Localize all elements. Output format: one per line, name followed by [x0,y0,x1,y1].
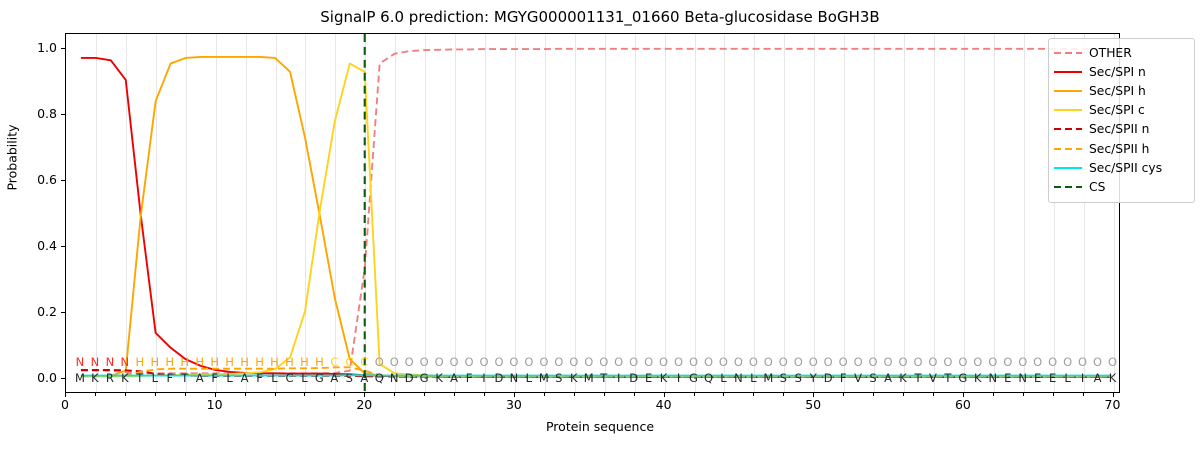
region-marker: O [1104,355,1122,370]
x-minor-tick [484,393,485,396]
legend-label: Sec/SPI n [1082,65,1146,79]
legend-swatch-icon [1054,143,1082,155]
x-tick-label: 60 [943,397,983,412]
series-line-sec-spi-c [81,64,1112,377]
x-tick-mark [664,393,665,397]
legend-label: Sec/SPII h [1082,142,1149,156]
x-tick-label: 70 [1093,397,1133,412]
legend-swatch-icon [1054,47,1082,59]
legend-item-sec-spii-h[interactable]: Sec/SPII h [1054,139,1189,158]
legend-swatch-icon [1054,85,1082,97]
legend-swatch-icon [1054,66,1082,78]
x-minor-tick [245,393,246,396]
x-minor-tick [275,393,276,396]
legend-label: OTHER [1082,46,1132,60]
legend-item-sec-spii-cys[interactable]: Sec/SPII cys [1054,158,1189,177]
x-minor-tick [394,393,395,396]
legend-item-cs[interactable]: CS [1054,177,1189,196]
x-tick-mark [813,393,814,397]
series-line-sec-spi-h [81,57,1112,377]
x-tick-label: 50 [793,397,833,412]
x-minor-tick [544,393,545,396]
legend-item-sec-spi-c[interactable]: Sec/SPI c [1054,101,1189,120]
x-minor-tick [155,393,156,396]
x-tick-label: 0 [45,397,85,412]
x-tick-label: 40 [644,397,684,412]
x-minor-tick [574,393,575,396]
x-tick-label: 30 [494,397,534,412]
region-annotation-row: NNNNHHHHHHHHHHHHHCCCOOOOOOOOOOOOOOOOOOOO… [0,355,1200,370]
y-tick-mark [61,48,65,49]
x-tick-mark [514,393,515,397]
legend-swatch-icon [1054,123,1082,135]
y-tick-label: 0.8 [5,106,57,121]
legend-item-other[interactable]: OTHER [1054,43,1189,62]
x-minor-tick [634,393,635,396]
legend-swatch-icon [1054,181,1082,193]
legend-label: Sec/SPII n [1082,122,1149,136]
amino-acid-row: MKRKTLFTAFLAFLCLGASAQNDGKAFIDNLMSKMTIDEK… [0,371,1200,386]
x-minor-tick [424,393,425,396]
x-minor-tick [873,393,874,396]
x-minor-tick [903,393,904,396]
x-tick-mark [364,393,365,397]
page-title: SignalP 6.0 prediction: MGYG000001131_01… [0,8,1200,26]
x-minor-tick [125,393,126,396]
x-minor-tick [604,393,605,396]
x-minor-tick [993,393,994,396]
x-tick-mark [1113,393,1114,397]
x-minor-tick [454,393,455,396]
x-minor-tick [723,393,724,396]
x-minor-tick [334,393,335,396]
x-minor-tick [933,393,934,396]
y-tick-label: 0.2 [5,304,57,319]
x-minor-tick [753,393,754,396]
legend-label: Sec/SPI c [1082,103,1145,117]
x-minor-tick [843,393,844,396]
x-tick-label: 10 [195,397,235,412]
y-tick-mark [61,312,65,313]
legend[interactable]: OTHERSec/SPI nSec/SPI hSec/SPI cSec/SPII… [1048,38,1195,203]
legend-swatch-icon [1054,162,1082,174]
x-minor-tick [694,393,695,396]
legend-label: Sec/SPI h [1082,84,1146,98]
legend-label: Sec/SPII cys [1082,161,1162,175]
x-minor-tick [185,393,186,396]
legend-item-sec-spi-h[interactable]: Sec/SPI h [1054,81,1189,100]
y-tick-mark [61,114,65,115]
legend-swatch-icon [1054,104,1082,116]
curve-canvas [66,34,1119,392]
x-minor-tick [783,393,784,396]
x-minor-tick [1023,393,1024,396]
y-tick-label: 1.0 [5,40,57,55]
x-minor-tick [304,393,305,396]
y-tick-label: 0.4 [5,238,57,253]
legend-item-sec-spii-n[interactable]: Sec/SPII n [1054,120,1189,139]
plot-area [65,33,1120,393]
series-line-sec-spi-n [81,58,1112,377]
legend-item-sec-spi-n[interactable]: Sec/SPI n [1054,62,1189,81]
y-tick-mark [61,180,65,181]
x-tick-mark [963,393,964,397]
x-minor-tick [1083,393,1084,396]
x-minor-tick [1053,393,1054,396]
x-minor-tick [95,393,96,396]
x-tick-mark [65,393,66,397]
series-line-other [81,49,1112,373]
legend-label: CS [1082,180,1105,194]
y-tick-mark [61,246,65,247]
x-tick-mark [215,393,216,397]
x-axis-label: Protein sequence [0,419,1200,434]
sequence-residue: K [1104,371,1122,386]
x-tick-label: 20 [344,397,384,412]
y-tick-label: 0.6 [5,172,57,187]
